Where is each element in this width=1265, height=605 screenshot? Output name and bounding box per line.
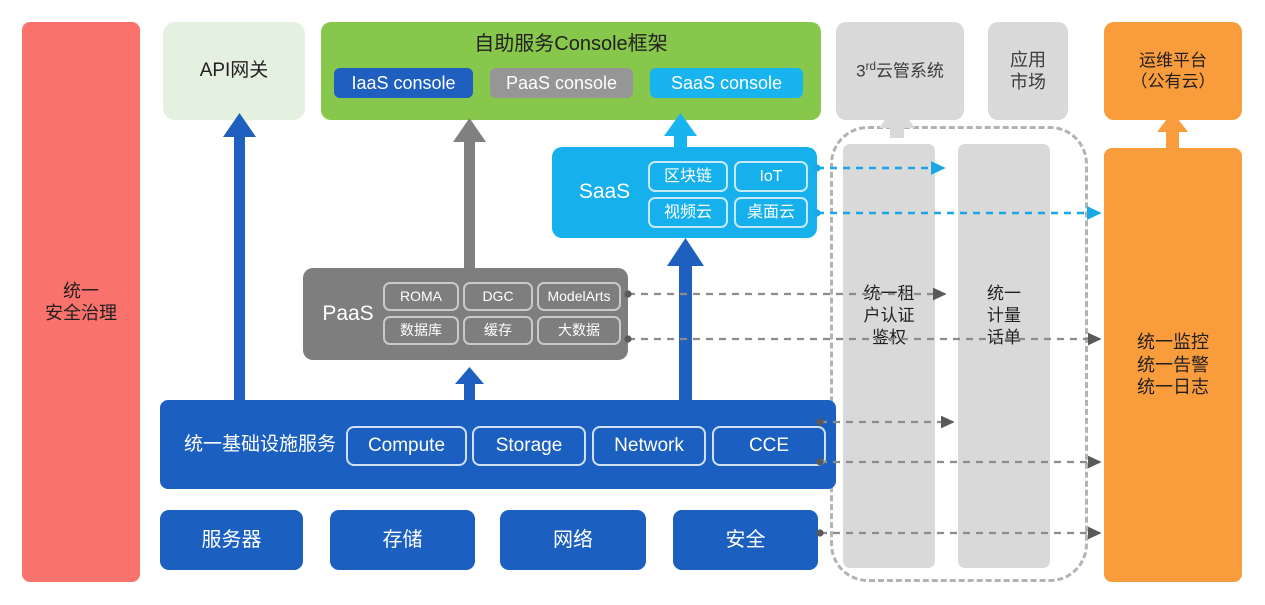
arrow-infra-to-saas bbox=[667, 238, 704, 400]
paas-tag-roma[interactable]: ROMA bbox=[383, 282, 459, 311]
api-gateway-box[interactable]: API网关 bbox=[163, 22, 305, 120]
saas-panel[interactable]: SaaS 区块链 IoT 视频云 桌面云 bbox=[552, 147, 817, 238]
hardware-box-network[interactable]: 网络 bbox=[500, 510, 646, 570]
hardware-box-storage[interactable]: 存储 bbox=[330, 510, 475, 570]
paas-panel-label: PaaS bbox=[309, 268, 387, 360]
saas-panel-label: SaaS bbox=[562, 147, 647, 238]
paas-tag-dgc[interactable]: DGC bbox=[463, 282, 533, 311]
saas-console-button[interactable]: SaaS console bbox=[650, 68, 803, 98]
paas-tag-modelarts[interactable]: ModelArts bbox=[537, 282, 621, 311]
hardware-box-security[interactable]: 安全 bbox=[673, 510, 818, 570]
infra-tag-compute[interactable]: Compute bbox=[346, 426, 467, 466]
arrow-infra-to-paas bbox=[455, 367, 484, 400]
third-party-cloud-management-box[interactable]: 3rd云管系统 bbox=[836, 22, 964, 120]
unified-security-governance-column[interactable]: 统一 安全治理 bbox=[22, 22, 140, 582]
shared-service-label-metering: 统一 计量 话单 bbox=[958, 283, 1050, 349]
shared-service-column-auth[interactable] bbox=[843, 144, 935, 568]
ops-platform-header-box[interactable]: 运维平台 （公有云） bbox=[1104, 22, 1242, 120]
paas-panel[interactable]: PaaS ROMA DGC ModelArts 数据库 缓存 大数据 bbox=[303, 268, 628, 360]
third-party-label: 3rd云管系统 bbox=[856, 60, 944, 82]
shared-service-label-auth: 统一租 户认证 鉴权 bbox=[843, 283, 935, 349]
infra-tag-cce[interactable]: CCE bbox=[712, 426, 826, 466]
saas-tag-blockchain[interactable]: 区块链 bbox=[648, 161, 728, 192]
paas-tag-database[interactable]: 数据库 bbox=[383, 316, 459, 345]
iaas-console-button[interactable]: IaaS console bbox=[334, 68, 473, 98]
app-market-box[interactable]: 应用 市场 bbox=[988, 22, 1068, 120]
arrow-infra-to-api-gateway bbox=[223, 113, 256, 400]
infra-tag-storage[interactable]: Storage bbox=[472, 426, 586, 466]
infra-tag-network[interactable]: Network bbox=[592, 426, 706, 466]
unified-infrastructure-service-bar[interactable]: 统一基础设施服务 Compute Storage Network CCE bbox=[160, 400, 836, 489]
saas-tag-desktop-cloud[interactable]: 桌面云 bbox=[734, 197, 808, 228]
console-framework-title: 自助服务Console框架 bbox=[321, 32, 821, 57]
ops-platform-body-box[interactable]: 统一监控 统一告警 统一日志 bbox=[1104, 148, 1242, 582]
paas-tag-bigdata[interactable]: 大数据 bbox=[537, 316, 621, 345]
saas-tag-video-cloud[interactable]: 视频云 bbox=[648, 197, 728, 228]
self-service-console-framework[interactable]: 自助服务Console框架 IaaS console PaaS console … bbox=[321, 22, 821, 120]
infrastructure-label: 统一基础设施服务 bbox=[174, 400, 346, 489]
architecture-diagram: 统一 安全治理 API网关 自助服务Console框架 IaaS console… bbox=[0, 0, 1265, 605]
arrow-paas-to-console bbox=[453, 118, 486, 268]
shared-service-column-metering[interactable] bbox=[958, 144, 1050, 568]
hardware-box-server[interactable]: 服务器 bbox=[160, 510, 303, 570]
paas-tag-cache[interactable]: 缓存 bbox=[463, 316, 533, 345]
saas-tag-iot[interactable]: IoT bbox=[734, 161, 808, 192]
paas-console-button[interactable]: PaaS console bbox=[490, 68, 633, 98]
